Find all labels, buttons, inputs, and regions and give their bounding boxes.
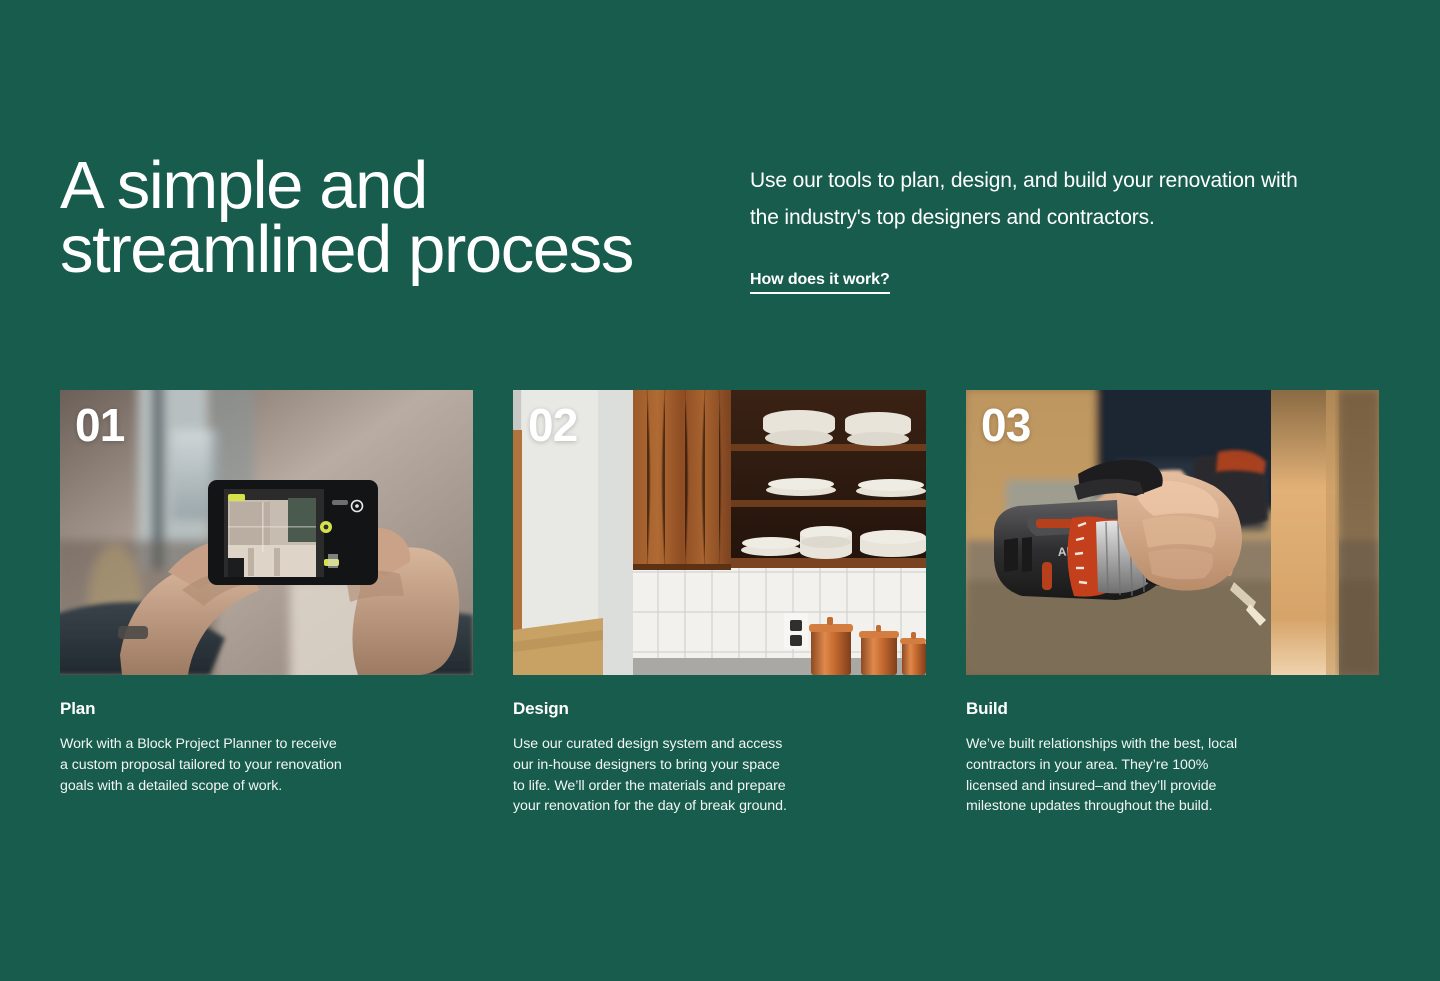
card-description: Work with a Block Project Planner to rec… <box>60 734 473 796</box>
card-title: Plan <box>60 698 473 720</box>
process-section: A simple and streamlined process Use our… <box>0 0 1440 981</box>
card-title: Build <box>966 698 1379 720</box>
intro-paragraph: Use our tools to plan, design, and build… <box>750 162 1310 236</box>
card-title: Design <box>513 698 926 720</box>
how-does-it-work-link[interactable]: How does it work? <box>750 270 890 294</box>
card-image-plan: 01 <box>60 390 473 675</box>
card-image-build: AEG <box>966 390 1379 675</box>
intro-block: Use our tools to plan, design, and build… <box>750 150 1310 294</box>
card-description: We’ve built relationships with the best,… <box>966 734 1379 817</box>
card-image-design: 02 <box>513 390 926 675</box>
process-card[interactable]: AEG <box>966 390 1379 817</box>
section-header: A simple and streamlined process Use our… <box>60 150 1380 294</box>
page-title: A simple and streamlined process <box>60 150 750 282</box>
process-card-list: 01 Plan Work with a Block Project Planne… <box>60 390 1380 817</box>
card-description: Use our curated design system and access… <box>513 734 926 817</box>
process-card[interactable]: 01 Plan Work with a Block Project Planne… <box>60 390 473 817</box>
process-card[interactable]: 02 Design Use our curated design system … <box>513 390 926 817</box>
